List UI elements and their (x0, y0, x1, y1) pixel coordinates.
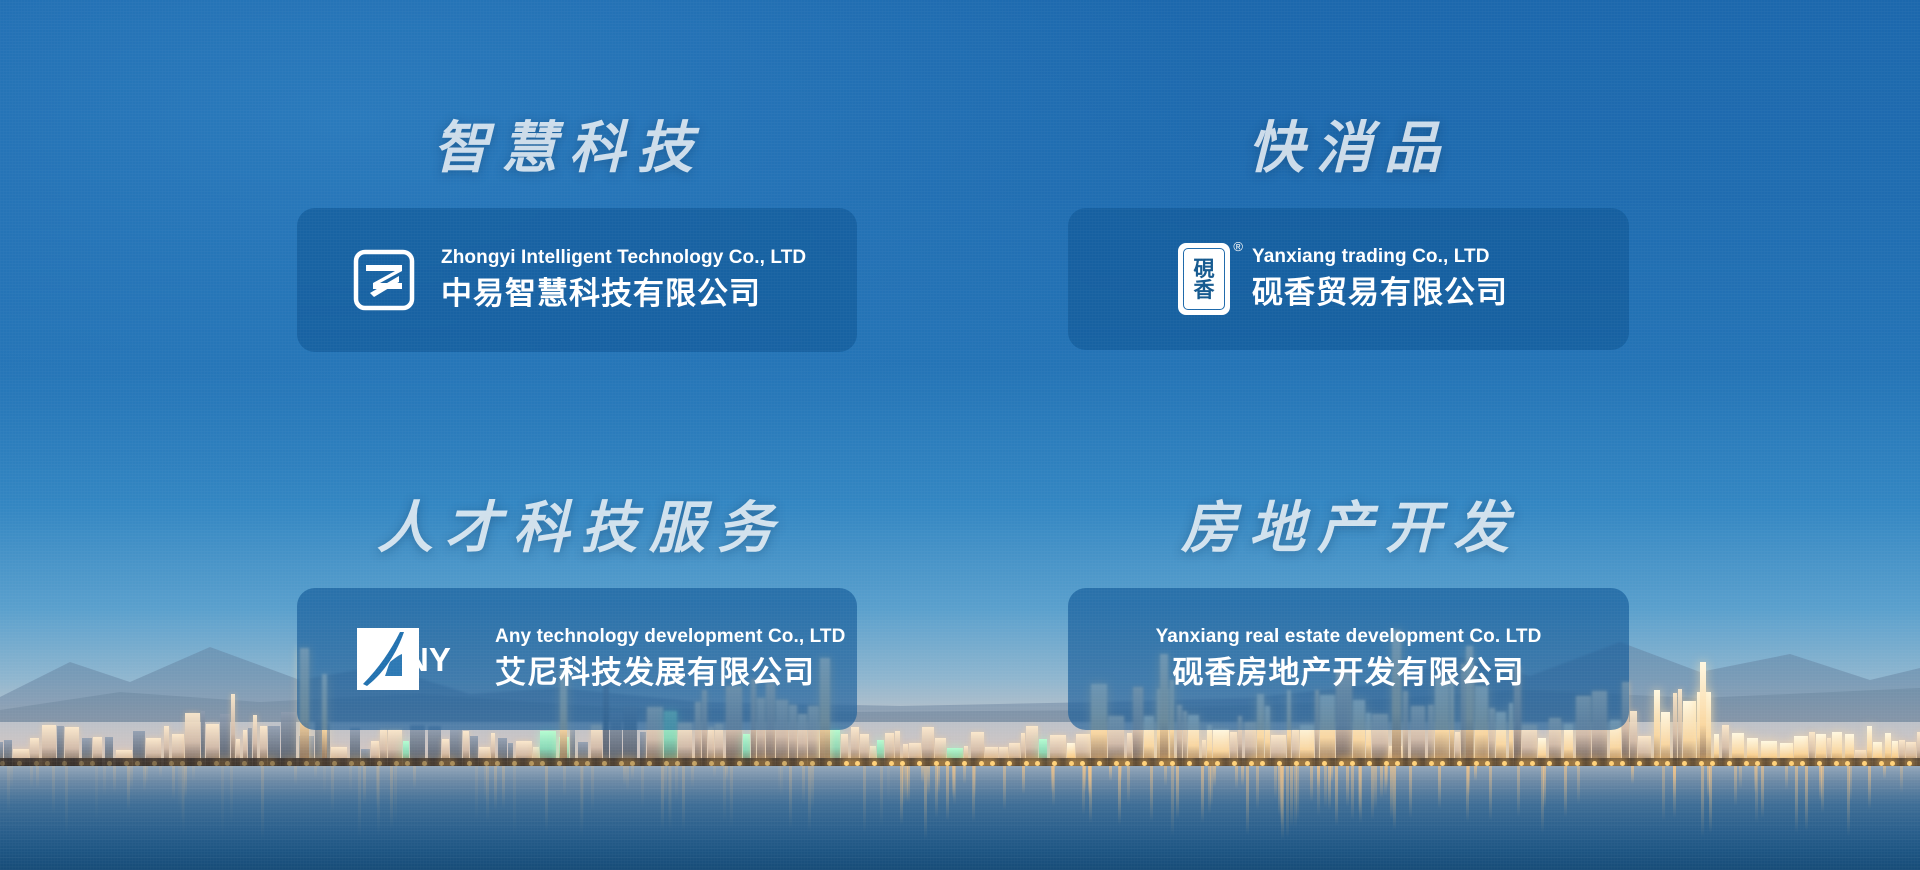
company-name-cn: 中易智慧科技有限公司 (441, 274, 806, 314)
section-title-fmcg: 快消品 (1248, 120, 1629, 176)
company-name-cn: 砚香贸易有限公司 (1252, 273, 1508, 313)
company-card-zhongyi[interactable]: Zhongyi Intelligent Technology Co., LTD … (297, 208, 857, 352)
section-smart-technology: 智慧科技 Zhongyi Intelligent Technology Co.,… (297, 120, 857, 352)
any-mountain-mark-icon: NY (357, 628, 475, 690)
company-name-en: Yanxiang trading Co., LTD (1252, 245, 1508, 269)
company-card-yanxiang-trading[interactable]: 硯 香 ® Yanxiang trading Co., LTD 砚香贸易有限公司 (1068, 208, 1629, 350)
company-name-en: Any technology development Co., LTD (495, 625, 845, 649)
section-fmcg: 快消品 硯 香 ® Yanxiang trading Co., LTD 砚香贸易… (1068, 120, 1629, 350)
company-name-cn: 砚香房地产开发有限公司 (1173, 653, 1525, 693)
company-name-block: Any technology development Co., LTD 艾尼科技… (495, 625, 845, 692)
company-name-en: Zhongyi Intelligent Technology Co., LTD (441, 246, 806, 270)
registered-trademark-icon: ® (1233, 240, 1243, 253)
section-talent-services: 人才科技服务 NY Any technology development Co.… (297, 500, 857, 730)
company-name-block: Zhongyi Intelligent Technology Co., LTD … (441, 246, 806, 313)
section-title-real-estate: 房地产开发 (1181, 500, 1629, 556)
seal-char-top: 硯 (1194, 258, 1215, 279)
section-title-talent-services: 人才科技服务 (377, 500, 857, 556)
company-name-cn: 艾尼科技发展有限公司 (495, 653, 845, 693)
section-title-smart-technology: 智慧科技 (433, 120, 857, 176)
company-card-any-technology[interactable]: NY Any technology development Co., LTD 艾… (297, 588, 857, 730)
company-name-block: Yanxiang real estate development Co. LTD… (1156, 625, 1542, 692)
seal-char-bottom: 香 (1194, 279, 1215, 300)
company-name-en: Yanxiang real estate development Co. LTD (1156, 625, 1542, 649)
segments-grid: 智慧科技 Zhongyi Intelligent Technology Co.,… (0, 0, 1920, 870)
company-card-yanxiang-real-estate[interactable]: Yanxiang real estate development Co. LTD… (1068, 588, 1629, 730)
zhongyi-z-mark-icon (353, 249, 415, 311)
company-name-block: Yanxiang trading Co., LTD 砚香贸易有限公司 (1252, 245, 1508, 312)
section-real-estate: 房地产开发 Yanxiang real estate development C… (1068, 500, 1629, 730)
hero-banner: 智慧科技 Zhongyi Intelligent Technology Co.,… (0, 0, 1920, 870)
yanxiang-seal-icon: 硯 香 ® (1178, 243, 1230, 315)
